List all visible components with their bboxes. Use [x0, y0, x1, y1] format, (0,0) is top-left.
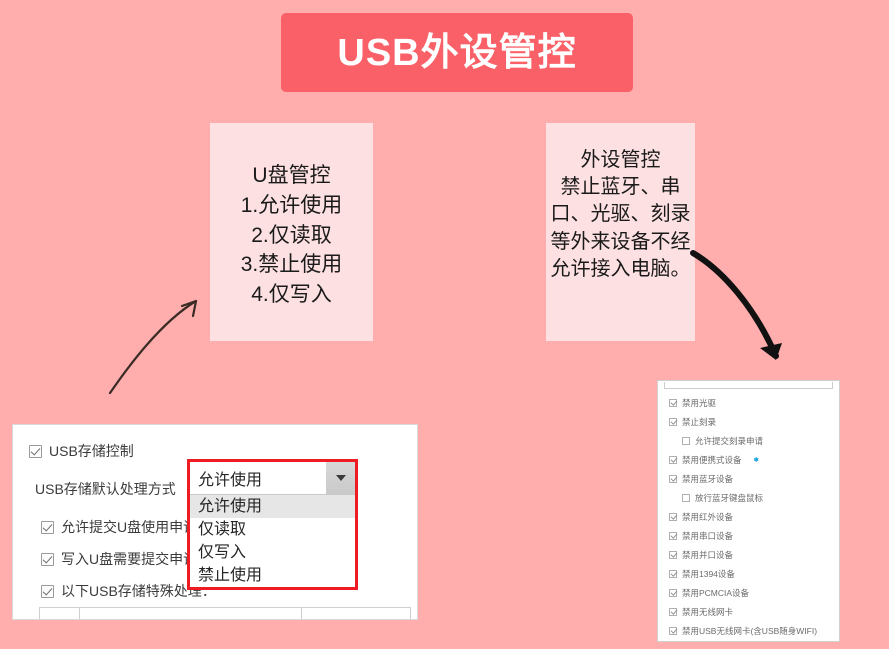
peripheral-item-9[interactable]: 禁用1394设备	[658, 564, 839, 583]
callout-left-line-1: U盘管控	[210, 161, 373, 191]
combobox-selected-value: 允许使用	[190, 466, 326, 490]
checkbox-icon-peripheral-2[interactable]	[682, 437, 690, 445]
checkbox-icon-special-handling[interactable]	[41, 585, 54, 598]
checkbox-icon-peripheral-11[interactable]	[669, 608, 677, 616]
checkbox-icon-write-apply[interactable]	[41, 553, 54, 566]
peripheral-item-label-9: 禁用1394设备	[682, 568, 735, 580]
callout-right-line-2: 禁止蓝牙、串口、光驱、刻录等外来设备不经允许接入电脑。	[546, 174, 695, 283]
peripheral-item-label-5: 放行蓝牙键盘鼠标	[695, 492, 763, 504]
checkbox-row-usb-storage-control[interactable]: USB存储控制	[29, 441, 134, 461]
table-column-2	[80, 608, 302, 620]
dropdown-option-list[interactable]: 允许使用 仅读取 仅写入 禁止使用	[190, 495, 355, 587]
title-banner: USB外设管控	[281, 13, 633, 92]
peripheral-item-2[interactable]: 允许提交刻录申请	[658, 431, 839, 450]
peripheral-item-label-2: 允许提交刻录申请	[695, 435, 763, 447]
page-title: USB外设管控	[337, 34, 576, 72]
checkbox-icon-peripheral-1[interactable]	[669, 418, 677, 426]
peripheral-device-panel: 禁用光驱禁止刻录允许提交刻录申请禁用便携式设备禁用蓝牙设备放行蓝牙键盘鼠标禁用红…	[657, 380, 840, 642]
peripheral-item-label-1: 禁止刻录	[682, 416, 716, 428]
peripheral-item-4[interactable]: 禁用蓝牙设备	[658, 469, 839, 488]
curved-arrow-down-right-icon	[688, 248, 808, 376]
checkbox-icon-peripheral-0[interactable]	[669, 399, 677, 407]
peripheral-item-label-6: 禁用红外设备	[682, 511, 733, 523]
checkbox-icon-peripheral-8[interactable]	[669, 551, 677, 559]
checkbox-row-allow-apply[interactable]: 允许提交U盘使用申请	[41, 517, 197, 537]
slide-canvas: USB外设管控 U盘管控 1.允许使用 2.仅读取 3.禁止使用 4.仅写入 外…	[0, 0, 889, 649]
dropdown-option-allow[interactable]: 允许使用	[190, 495, 355, 518]
peripheral-item-label-0: 禁用光驱	[682, 397, 716, 409]
peripheral-item-6[interactable]: 禁用红外设备	[658, 507, 839, 526]
special-handling-table[interactable]	[39, 607, 411, 620]
peripheral-item-label-12: 禁用USB无线网卡(含USB随身WIFI)	[682, 625, 817, 637]
checkbox-icon-peripheral-10[interactable]	[669, 589, 677, 597]
combobox-toggle-button[interactable]	[326, 462, 355, 494]
peripheral-item-10[interactable]: 禁用PCMCIA设备	[658, 583, 839, 602]
checkbox-icon-allow-apply[interactable]	[41, 521, 54, 534]
peripheral-item-7[interactable]: 禁用串口设备	[658, 526, 839, 545]
checkbox-icon-peripheral-5[interactable]	[682, 494, 690, 502]
peripheral-item-label-8: 禁用并口设备	[682, 549, 733, 561]
peripheral-item-0[interactable]: 禁用光驱	[658, 393, 839, 412]
checkbox-label-write-apply: 写入U盘需要提交申请	[61, 549, 197, 569]
dropdown-option-readonly[interactable]: 仅读取	[190, 518, 355, 541]
peripheral-item-8[interactable]: 禁用并口设备	[658, 545, 839, 564]
curved-arrow-up-right-icon	[108, 275, 223, 395]
panel-scroll-clipped-row	[664, 382, 833, 389]
checkbox-icon-peripheral-6[interactable]	[669, 513, 677, 521]
table-column-3	[302, 608, 410, 620]
checkbox-icon-peripheral-3[interactable]	[669, 456, 677, 464]
peripheral-item-label-4: 禁用蓝牙设备	[682, 473, 733, 485]
gear-icon[interactable]	[751, 455, 760, 464]
callout-udisk-control: U盘管控 1.允许使用 2.仅读取 3.禁止使用 4.仅写入	[210, 123, 373, 341]
callout-left-line-4: 3.禁止使用	[210, 250, 373, 280]
peripheral-item-label-7: 禁用串口设备	[682, 530, 733, 542]
table-column-1	[40, 608, 80, 620]
checkbox-icon-usb-storage-control[interactable]	[29, 445, 42, 458]
callout-right-line-1: 外设管控	[546, 147, 695, 174]
checkbox-icon-peripheral-4[interactable]	[669, 475, 677, 483]
peripheral-item-label-11: 禁用无线网卡	[682, 606, 733, 618]
dropdown-option-forbid[interactable]: 禁止使用	[190, 564, 355, 587]
callout-left-line-5: 4.仅写入	[210, 280, 373, 310]
checkbox-label-allow-apply: 允许提交U盘使用申请	[61, 517, 197, 537]
default-action-combobox[interactable]: 允许使用	[190, 462, 355, 495]
peripheral-item-label-10: 禁用PCMCIA设备	[682, 587, 749, 599]
peripheral-item-13[interactable]: 禁用USB网络共享	[658, 640, 839, 642]
peripheral-item-1[interactable]: 禁止刻录	[658, 412, 839, 431]
checkbox-row-write-apply[interactable]: 写入U盘需要提交申请	[41, 549, 197, 569]
peripheral-checkbox-list: 禁用光驱禁止刻录允许提交刻录申请禁用便携式设备禁用蓝牙设备放行蓝牙键盘鼠标禁用红…	[658, 393, 839, 642]
checkbox-icon-peripheral-7[interactable]	[669, 532, 677, 540]
callout-left-line-3: 2.仅读取	[210, 221, 373, 251]
default-action-dropdown-highlight: 允许使用 允许使用 仅读取 仅写入 禁止使用	[187, 459, 358, 590]
field-label-default-action: USB存储默认处理方式	[35, 479, 176, 499]
chevron-down-icon	[336, 475, 346, 481]
checkbox-icon-peripheral-9[interactable]	[669, 570, 677, 578]
peripheral-item-12[interactable]: 禁用USB无线网卡(含USB随身WIFI)	[658, 621, 839, 640]
callout-left-line-2: 1.允许使用	[210, 191, 373, 221]
peripheral-item-11[interactable]: 禁用无线网卡	[658, 602, 839, 621]
dropdown-option-writeonly[interactable]: 仅写入	[190, 541, 355, 564]
checkbox-label-usb-storage-control: USB存储控制	[49, 441, 134, 461]
peripheral-item-5[interactable]: 放行蓝牙键盘鼠标	[658, 488, 839, 507]
peripheral-item-label-3: 禁用便携式设备	[682, 454, 742, 466]
callout-peripheral-control: 外设管控 禁止蓝牙、串口、光驱、刻录等外来设备不经允许接入电脑。	[546, 123, 695, 341]
peripheral-item-3[interactable]: 禁用便携式设备	[658, 450, 839, 469]
checkbox-icon-peripheral-12[interactable]	[669, 627, 677, 635]
